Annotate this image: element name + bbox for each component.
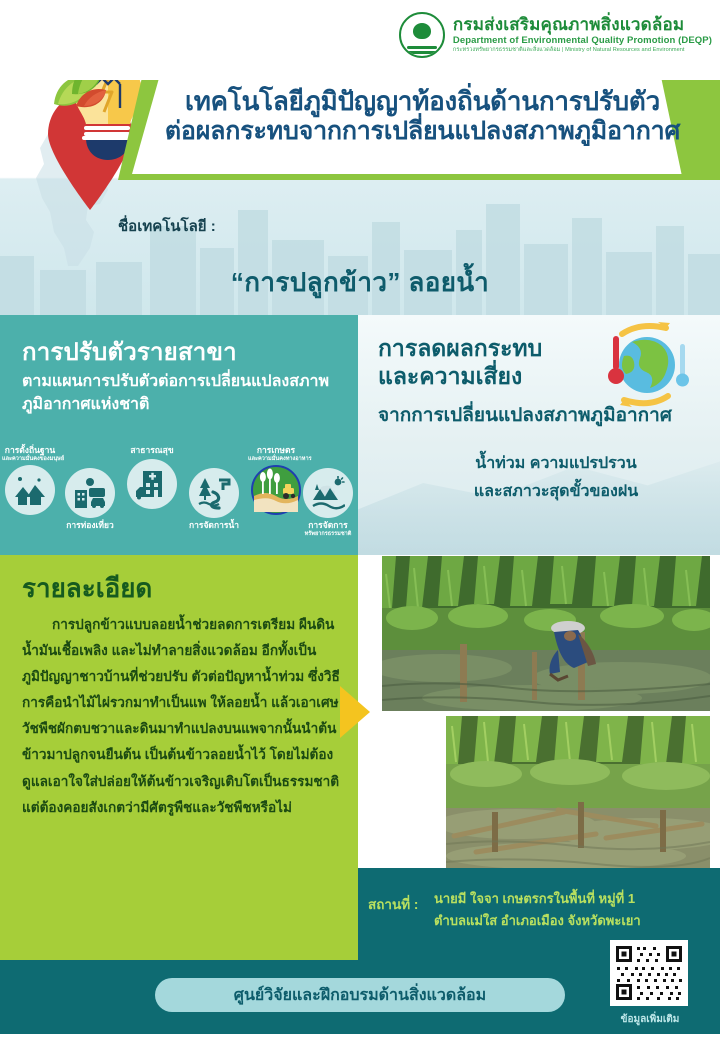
deqp-logo-text: กรมส่งเสริมคุณภาพสิ่งแวดล้อม Department … [453,16,712,54]
page-title-line2: ต่อผลกระทบจากการเปลี่ยนแปลงสภาพภูมิอากาศ [150,117,695,147]
tourism-icon [65,468,115,518]
page-title-line1: เทคโนโลยีภูมิปัญญาท้องถิ่นด้านการปรับตัว [150,86,695,117]
sector-item-tourism[interactable]: การท่องเที่ยว [62,468,118,531]
farmer-in-rice-field-photo [382,556,710,711]
sector-item-agriculture[interactable]: การเกษตร และความมั่นคงทางอาหาร [248,446,304,515]
settlement-icon [5,465,55,515]
sector-label-agriculture: การเกษตร และความมั่นคงทางอาหาร [248,446,304,462]
sector-item-public-health[interactable]: สาธารณสุข [124,446,180,509]
sector-label-settlement: การตั้งถิ่นฐาน และความมั่นคงของมนุษย์ [2,446,58,462]
location-band-left-fill [0,960,358,972]
location-line2: ตำบลแม่ใส อำเภอเมือง จังหวัดพะเยา [434,910,664,932]
climate-risk-line2: และสภาวะสุดขั้วของฝน [396,478,716,506]
bottom-edge [0,1034,720,1040]
thermometer-blue [676,344,689,387]
sector-label-tourism: การท่องเที่ยว [62,521,118,531]
mitigation-heading-line1: การลดผลกระทบ [378,334,542,362]
technology-name-value: “การปลูกข้าว” ลอยน้ำ [0,262,720,303]
water-management-icon [189,468,239,518]
technology-name-label: ชื่อเทคโนโลยี : [118,214,216,238]
details-body-text: การปลูกข้าวแบบลอยน้ำช่วยลดการเตรียม ผืนด… [22,612,340,821]
poster-header: กรมส่งเสริมคุณภาพสิ่งแวดล้อม Department … [0,0,720,80]
agriculture-icon [251,465,301,515]
research-center-badge: ศูนย์วิจัยและฝึกอบรมด้านสิ่งแวดล้อม [155,978,565,1012]
adaptation-subheading: ตามแผนการปรับตัวต่อการเปลี่ยนแปลงสภาพภูม… [22,370,342,416]
location-value: นายมี ใจจา เกษตรกรในพื้นที่ หมู่ที่ 1 ตำ… [434,888,664,933]
sector-label-public-health: สาธารณสุข [124,446,180,456]
sector-label-natural-resources: การจัดการ ทรัพยากรธรรมชาติ [300,521,356,537]
details-heading: รายละเอียด [22,568,152,609]
arrow-right-icon [340,686,370,738]
tree-seal-icon [399,12,445,58]
sector-icon-row: การตั้งถิ่นฐาน และความมั่นคงของมนุษย์ [0,446,358,554]
mitigation-heading-line2: และความเสี่ยง [378,362,542,390]
research-center-label: ศูนย์วิจัยและฝึกอบรมด้านสิ่งแวดล้อม [234,983,486,1008]
mitigation-heading: การลดผลกระทบ และความเสี่ยง [378,334,542,390]
page-title: เทคโนโลยีภูมิปัญญาท้องถิ่นด้านการปรับตัว… [150,86,695,146]
floating-rice-raft-photo [446,716,710,868]
globe-thermometer-icon [592,322,698,408]
qr-code-label: ข้อมูลเพิ่มเติม [598,1012,702,1027]
sector-item-settlement[interactable]: การตั้งถิ่นฐาน และความมั่นคงของมนุษย์ [2,446,58,515]
qr-code-icon[interactable] [610,940,688,1006]
climate-risk-line1: น้ำท่วม ความแปรปรวน [396,450,716,478]
sector-item-water-management[interactable]: การจัดการน้ำ [186,468,242,531]
org-ministry-line: กระทรวงทรัพยากรธรรมชาติและสิ่งแวดล้อม | … [453,48,712,54]
sector-label-water-management: การจัดการน้ำ [186,521,242,531]
adaptation-heading: การปรับตัวรายสาขา [22,332,237,371]
deqp-logo: กรมส่งเสริมคุณภาพสิ่งแวดล้อม Department … [399,12,712,58]
public-health-icon [127,459,177,509]
natural-resources-icon [303,468,353,518]
poster-root: กรมส่งเสริมคุณภาพสิ่งแวดล้อม Department … [0,0,720,1040]
org-name-en: Department of Environmental Quality Prom… [453,36,712,46]
org-name-th: กรมส่งเสริมคุณภาพสิ่งแวดล้อม [453,16,712,34]
climate-risk-text: น้ำท่วม ความแปรปรวน และสภาวะสุดขั้วของฝน [396,450,716,506]
sector-item-natural-resources[interactable]: การจัดการ ทรัพยากรธรรมชาติ [300,468,356,537]
location-line1: นายมี ใจจา เกษตรกรในพื้นที่ หมู่ที่ 1 [434,888,664,910]
location-label: สถานที่ : [368,893,418,915]
